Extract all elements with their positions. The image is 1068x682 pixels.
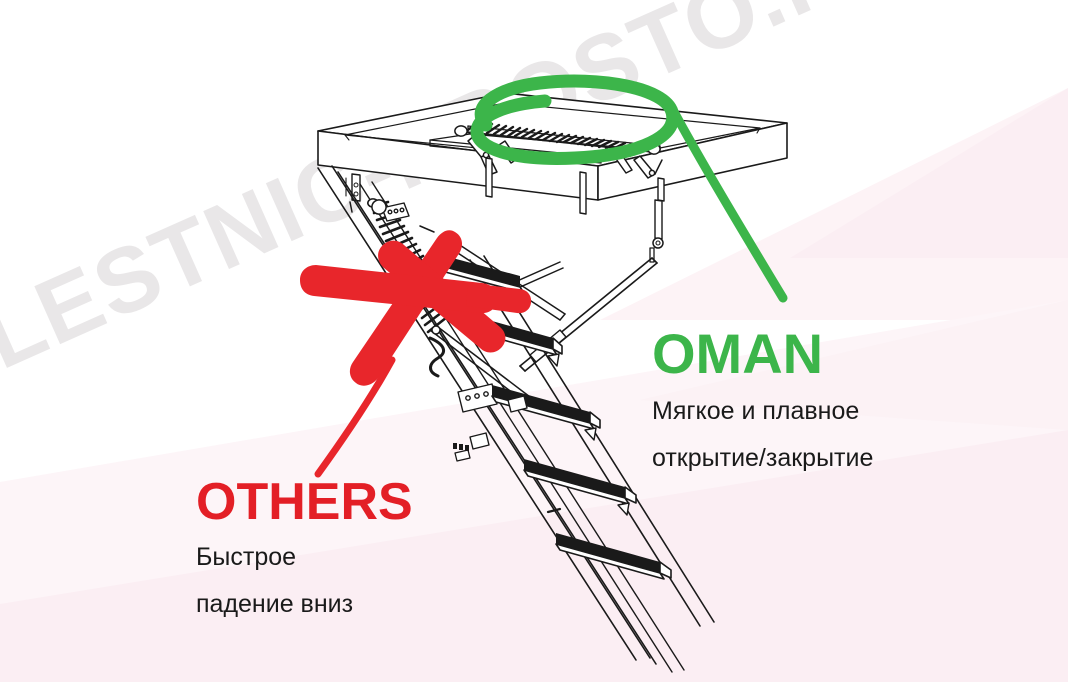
- oman-subtitle-line-2: открытие/закрытие: [652, 441, 873, 476]
- ladder-steps: [430, 252, 671, 579]
- latch-plate-upper: [372, 200, 409, 221]
- infographic-canvas: LESTNIC-PROSTO.RU: [0, 0, 1068, 682]
- others-label-block: OTHERS Быстрое падение вниз: [196, 476, 413, 621]
- ladder-step: [492, 385, 600, 429]
- others-subtitle-line-2: падение вниз: [196, 587, 413, 622]
- oman-heading: OMAN: [652, 326, 873, 382]
- oman-label-block: OMAN Мягкое и плавное открытие/закрытие: [652, 326, 873, 475]
- oman-subtitle-line-1: Мягкое и плавное: [652, 394, 873, 429]
- others-heading: OTHERS: [196, 476, 413, 528]
- ladder-step: [460, 312, 562, 355]
- ladder-step: [524, 459, 636, 504]
- attic-ladder-illustration: [0, 0, 1068, 682]
- ladder-step: [556, 533, 671, 579]
- ladder-step: [430, 252, 524, 293]
- others-subtitle-line-1: Быстрое: [196, 540, 413, 575]
- coil-spring-side: [368, 199, 456, 376]
